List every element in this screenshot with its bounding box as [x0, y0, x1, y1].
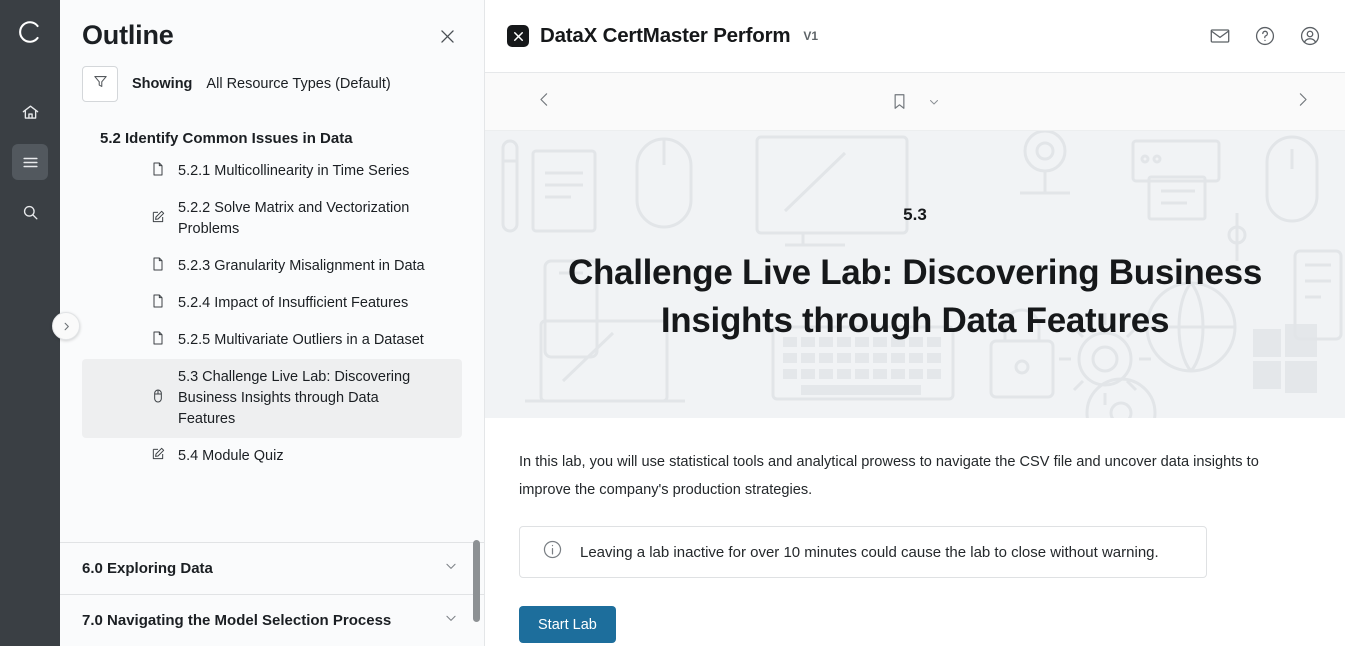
app-root: Outline Showing All Resource Types (Defa…	[0, 0, 1345, 646]
document-icon	[150, 293, 166, 314]
close-outline-button[interactable]	[434, 26, 460, 52]
list-item[interactable]: 5.2.3 Granularity Misalignment in Data	[82, 248, 462, 285]
left-nav-rail	[0, 0, 60, 646]
section-label: 7.0 Navigating the Model Selection Proce…	[82, 612, 391, 629]
home-icon	[21, 103, 40, 122]
lesson-title: Challenge Live Lab: Discovering Business…	[511, 249, 1319, 345]
chevron-down-icon[interactable]	[928, 96, 940, 108]
start-lab-button[interactable]: Start Lab	[519, 606, 616, 643]
list-item-label: 5.2.3 Granularity Misalignment in Data	[178, 256, 425, 277]
info-icon	[542, 539, 563, 565]
sidebar-item-search[interactable]	[12, 194, 48, 230]
outline-header: Outline	[60, 0, 484, 56]
bookmark-icon[interactable]	[890, 92, 909, 111]
dataX-logo-icon	[507, 25, 529, 47]
hero-text: 5.3 Challenge Live Lab: Discovering Busi…	[485, 205, 1345, 345]
edit-icon	[150, 209, 166, 230]
page-title: Outline	[82, 20, 174, 51]
chevron-right-icon	[1294, 91, 1311, 113]
sidebar-item-home[interactable]	[12, 94, 48, 130]
list-item-label: 5.2.2 Solve Matrix and Vectorization Pro…	[178, 198, 428, 240]
expand-panel-button[interactable]	[52, 312, 80, 340]
app-header: DataX CertMaster Perform V1	[485, 0, 1345, 73]
bookmark-group	[890, 92, 940, 111]
outline-scrollbar-thumb[interactable]	[473, 540, 480, 622]
close-icon	[438, 27, 457, 51]
header-actions	[1207, 23, 1323, 49]
document-icon	[150, 256, 166, 277]
lesson-description: In this lab, you will use statistical to…	[519, 448, 1311, 504]
showing-value[interactable]: All Resource Types (Default)	[206, 76, 390, 92]
list-item-selected[interactable]: 5.3 Challenge Live Lab: Discovering Busi…	[82, 359, 462, 438]
outline-panel: Outline Showing All Resource Types (Defa…	[60, 0, 485, 646]
lesson-hero-banner: 5.3 Challenge Live Lab: Discovering Busi…	[485, 131, 1345, 418]
product-name: DataX CertMaster Perform	[540, 24, 790, 48]
showing-label: Showing	[132, 76, 192, 92]
list-item-label: 5.2.1 Multicollinearity in Time Series	[178, 161, 409, 182]
outline-section-heading[interactable]: 5.2 Identify Common Issues in Data	[82, 116, 462, 153]
search-icon	[21, 203, 40, 222]
filter-row: Showing All Resource Types (Default)	[60, 56, 484, 116]
list-item-label: 5.2.4 Impact of Insufficient Features	[178, 293, 408, 314]
chevron-right-icon	[61, 321, 72, 332]
list-item[interactable]: 5.2.5 Multivariate Outliers in a Dataset	[82, 322, 462, 359]
document-icon	[150, 161, 166, 182]
help-icon[interactable]	[1252, 23, 1278, 49]
inactivity-notice: Leaving a lab inactive for over 10 minut…	[519, 526, 1207, 578]
lesson-number: 5.3	[511, 205, 1319, 225]
list-item[interactable]: 5.4 Module Quiz	[82, 438, 462, 475]
filter-icon	[92, 73, 109, 95]
edit-icon	[150, 446, 166, 467]
lab-mouse-icon	[150, 388, 166, 409]
brand: DataX CertMaster Perform V1	[507, 24, 818, 48]
mail-icon[interactable]	[1207, 23, 1233, 49]
next-page-button[interactable]	[1289, 89, 1315, 115]
chevron-left-icon	[536, 91, 553, 113]
main-content: DataX CertMaster Perform V1	[485, 0, 1345, 646]
list-item[interactable]: 5.2.1 Multicollinearity in Time Series	[82, 153, 462, 190]
section-label: 6.0 Exploring Data	[82, 560, 213, 577]
list-item-label: 5.2.5 Multivariate Outliers in a Dataset	[178, 330, 424, 351]
notice-text: Leaving a lab inactive for over 10 minut…	[580, 544, 1159, 561]
filter-button[interactable]	[82, 66, 118, 102]
list-item[interactable]: 5.2.2 Solve Matrix and Vectorization Pro…	[82, 190, 462, 248]
c-logo-icon[interactable]	[14, 16, 46, 48]
outline-scroll-area: 5.2 Identify Common Issues in Data 5.2.1…	[60, 116, 484, 542]
product-version: V1	[803, 29, 818, 43]
content-toolbar	[485, 73, 1345, 131]
list-item-label: 5.3 Challenge Live Lab: Discovering Busi…	[178, 367, 428, 430]
outline-section-exploring-data[interactable]: 6.0 Exploring Data	[60, 542, 484, 594]
menu-icon	[21, 153, 40, 172]
outline-section-model-selection[interactable]: 7.0 Navigating the Model Selection Proce…	[60, 594, 484, 646]
list-item-label: 5.4 Module Quiz	[178, 446, 284, 467]
chevron-down-icon	[444, 611, 458, 630]
list-item[interactable]: 5.2.4 Impact of Insufficient Features	[82, 285, 462, 322]
sidebar-item-outline[interactable]	[12, 144, 48, 180]
chevron-down-icon	[444, 559, 458, 578]
account-icon[interactable]	[1297, 23, 1323, 49]
prev-page-button[interactable]	[531, 89, 557, 115]
document-icon	[150, 330, 166, 351]
lesson-body: In this lab, you will use statistical to…	[485, 418, 1345, 646]
